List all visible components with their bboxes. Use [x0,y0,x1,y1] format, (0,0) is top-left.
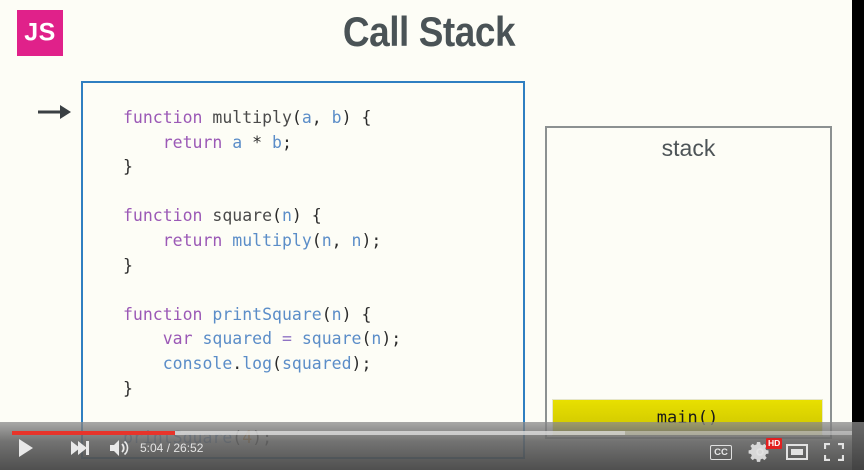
time-display: 5:04 / 26:52 [140,441,203,455]
code-token: ) { [342,305,372,324]
slide-right-edge [852,0,858,470]
page-title: Call Stack [51,8,806,56]
player-control-bar: 5:04 / 26:52 CC HD [0,422,864,470]
code-token: n [371,329,381,348]
code-token: } [123,256,133,275]
code-token: log [242,354,272,373]
closed-captions-button[interactable]: CC [707,442,735,462]
code-token: ); [361,231,381,250]
code-line [123,180,401,205]
code-token: ( [312,231,322,250]
next-video-icon [71,441,89,455]
stack-panel-label: stack [547,135,830,162]
code-token: } [123,157,133,176]
volume-icon [109,439,129,457]
code-panel: function multiply(a, b) { return a * b;}… [81,81,525,459]
hd-badge: HD [766,438,782,449]
progress-bar-played [12,431,175,435]
stack-panel: stack main() [545,126,832,439]
code-line: var squared = square(n); [123,327,401,352]
code-token: square [212,206,272,225]
code-token: square [302,329,362,348]
fullscreen-button[interactable] [822,441,846,463]
code-token: squared [282,354,352,373]
code-token [123,354,163,373]
code-token: squared [203,329,273,348]
code-token: printSquare [212,305,321,324]
right-arrow-icon [38,104,72,120]
code-line: console.log(squared); [123,352,401,377]
code-token [262,133,272,152]
slide-canvas: JS Call Stack function multiply(a, b) { … [0,0,858,470]
progress-bar-loaded [175,431,625,435]
code-line: return a * b; [123,131,401,156]
code-token: n [332,305,342,324]
code-line [123,278,401,303]
code-token: , [312,108,332,127]
code-token: ; [282,133,292,152]
code-token: b [272,133,282,152]
code-token: function [123,108,202,127]
code-line: } [123,155,401,180]
code-token [123,329,163,348]
code-token [222,133,232,152]
code-token: multiply [212,108,291,127]
code-line: } [123,377,401,402]
code-token: ( [322,305,332,324]
video-player-stage: JS Call Stack function multiply(a, b) { … [0,0,864,470]
code-token [242,133,252,152]
code-token: n [322,231,332,250]
code-token: return [163,133,223,152]
theater-mode-icon [786,444,808,460]
code-token: function [123,305,202,324]
code-token [193,329,203,348]
code-token: ) { [292,206,322,225]
code-token: return [163,231,223,250]
code-token [202,108,212,127]
code-token: ) { [342,108,372,127]
code-token: function [123,206,202,225]
code-token [292,329,302,348]
code-token: multiply [232,231,311,250]
code-token [202,206,212,225]
code-line: } [123,254,401,279]
code-token: * [252,133,262,152]
progress-bar-track[interactable] [12,431,852,435]
code-token: a [232,133,242,152]
code-token: b [332,108,342,127]
code-token: } [123,379,133,398]
code-token: = [282,329,292,348]
code-token: ( [361,329,371,348]
code-token: n [282,206,292,225]
code-token: . [232,354,242,373]
code-token: ); [381,329,401,348]
fullscreen-icon [824,443,844,461]
code-token: ( [272,354,282,373]
code-token: ( [292,108,302,127]
code-block: function multiply(a, b) { return a * b;}… [123,106,401,450]
play-button[interactable] [13,436,39,460]
code-token: ); [352,354,372,373]
play-icon [18,439,34,457]
code-line: function square(n) { [123,204,401,229]
code-token [202,305,212,324]
volume-button[interactable] [106,436,132,460]
code-token: , [332,231,352,250]
code-token: n [352,231,362,250]
code-token: ( [272,206,282,225]
code-token [123,231,163,250]
code-line: function multiply(a, b) { [123,106,401,131]
cc-icon: CC [710,445,732,460]
code-token [272,329,282,348]
code-token [222,231,232,250]
next-video-button[interactable] [67,436,93,460]
code-token: var [163,329,193,348]
code-line: return multiply(n, n); [123,229,401,254]
code-token: console [163,354,233,373]
code-token: a [302,108,312,127]
code-line: function printSquare(n) { [123,303,401,328]
theater-mode-button[interactable] [785,442,809,462]
code-token [123,133,163,152]
